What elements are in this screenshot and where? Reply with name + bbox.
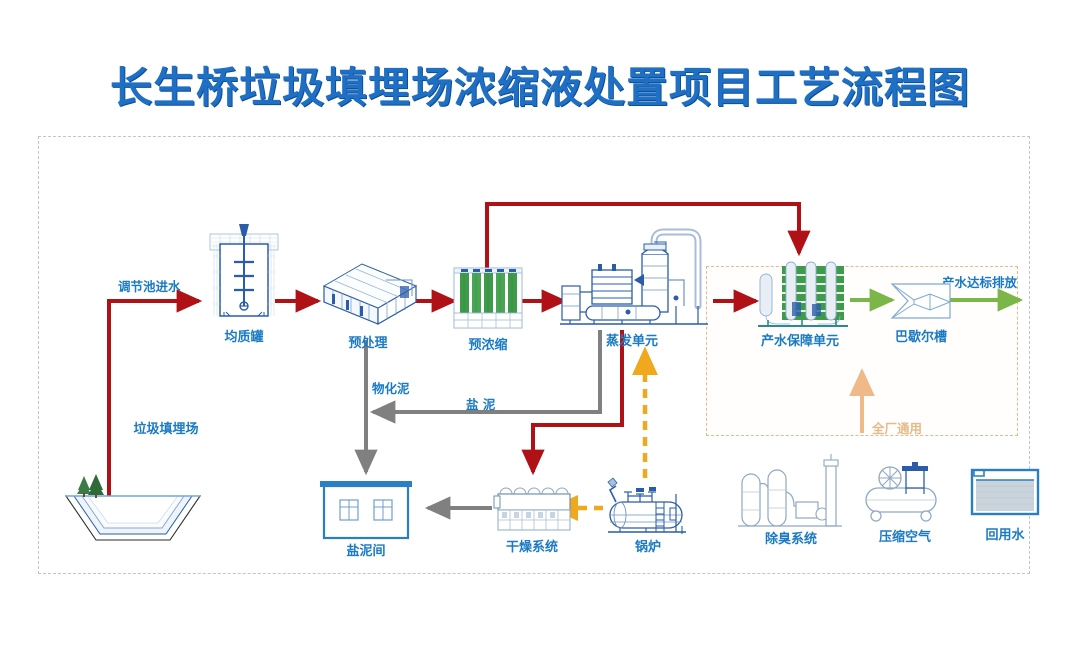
node-deodorization[interactable]: 除臭系统 [736, 452, 846, 534]
evaporator-icon [558, 220, 716, 332]
landfill-basin-icon [58, 470, 208, 542]
node-waterassurance[interactable]: 产水保障单元 [756, 256, 850, 332]
node-label-boiler: 锅炉 [578, 536, 718, 555]
node-evaporator[interactable]: 蒸发单元 [558, 220, 716, 332]
flow-label-plantwide: 全厂通用 [872, 418, 922, 437]
node-preconcentration[interactable]: 预浓缩 [452, 258, 524, 332]
membrane-rack-icon [452, 258, 524, 332]
node-homogenizer[interactable]: 均质罐 [206, 222, 282, 322]
node-label-waterassurance: 产水保障单元 [730, 330, 870, 349]
node-label-pretreatment: 预处理 [298, 332, 438, 351]
node-label-homogenizer: 均质罐 [174, 326, 314, 345]
flow-label-influent: 调节池进水 [118, 276, 181, 295]
building-icon [318, 474, 414, 546]
boiler-icon [606, 468, 690, 540]
diagram-canvas: 长生桥垃圾填埋场浓缩液处置项目工艺流程图 [30, 0, 1050, 648]
node-parshall[interactable]: 巴歇尔槽 [888, 278, 954, 324]
diagram-page: 长生桥垃圾填埋场浓缩液处置项目工艺流程图 [0, 0, 1080, 648]
filter-vessel-icon [756, 256, 850, 332]
deodorization-tower-icon [736, 452, 846, 534]
node-label-parshall: 巴歇尔槽 [851, 326, 991, 345]
node-landfill[interactable]: 垃圾填埋场 [58, 470, 208, 560]
node-label-preconcentration: 预浓缩 [418, 334, 558, 353]
node-dryer[interactable]: 干燥系统 [492, 478, 572, 540]
dryer-icon [492, 478, 572, 540]
water-tank-icon [968, 464, 1042, 524]
node-air-compressor[interactable]: 压缩空气 [862, 462, 948, 526]
parshall-flume-icon [888, 278, 954, 324]
node-label-evaporator: 蒸发单元 [562, 330, 702, 349]
node-saltroom[interactable]: 盐泥间 [318, 474, 414, 546]
flow-label-phys-sludge: 物化泥 [372, 378, 410, 397]
isometric-basin-icon [316, 256, 420, 328]
node-label-saltroom: 盐泥间 [296, 540, 436, 559]
node-pretreatment[interactable]: 预处理 [316, 256, 420, 328]
air-compressor-icon [862, 462, 948, 526]
flow-label-salt-sludge: 盐 泥 [466, 394, 495, 413]
node-boiler[interactable]: 锅炉 [606, 468, 690, 540]
node-label-reuse-water: 回用水 [935, 524, 1075, 543]
node-label-landfill: 垃圾填埋场 [96, 418, 236, 437]
node-reuse-water[interactable]: 回用水 [968, 464, 1042, 524]
tank-icon [206, 222, 282, 322]
